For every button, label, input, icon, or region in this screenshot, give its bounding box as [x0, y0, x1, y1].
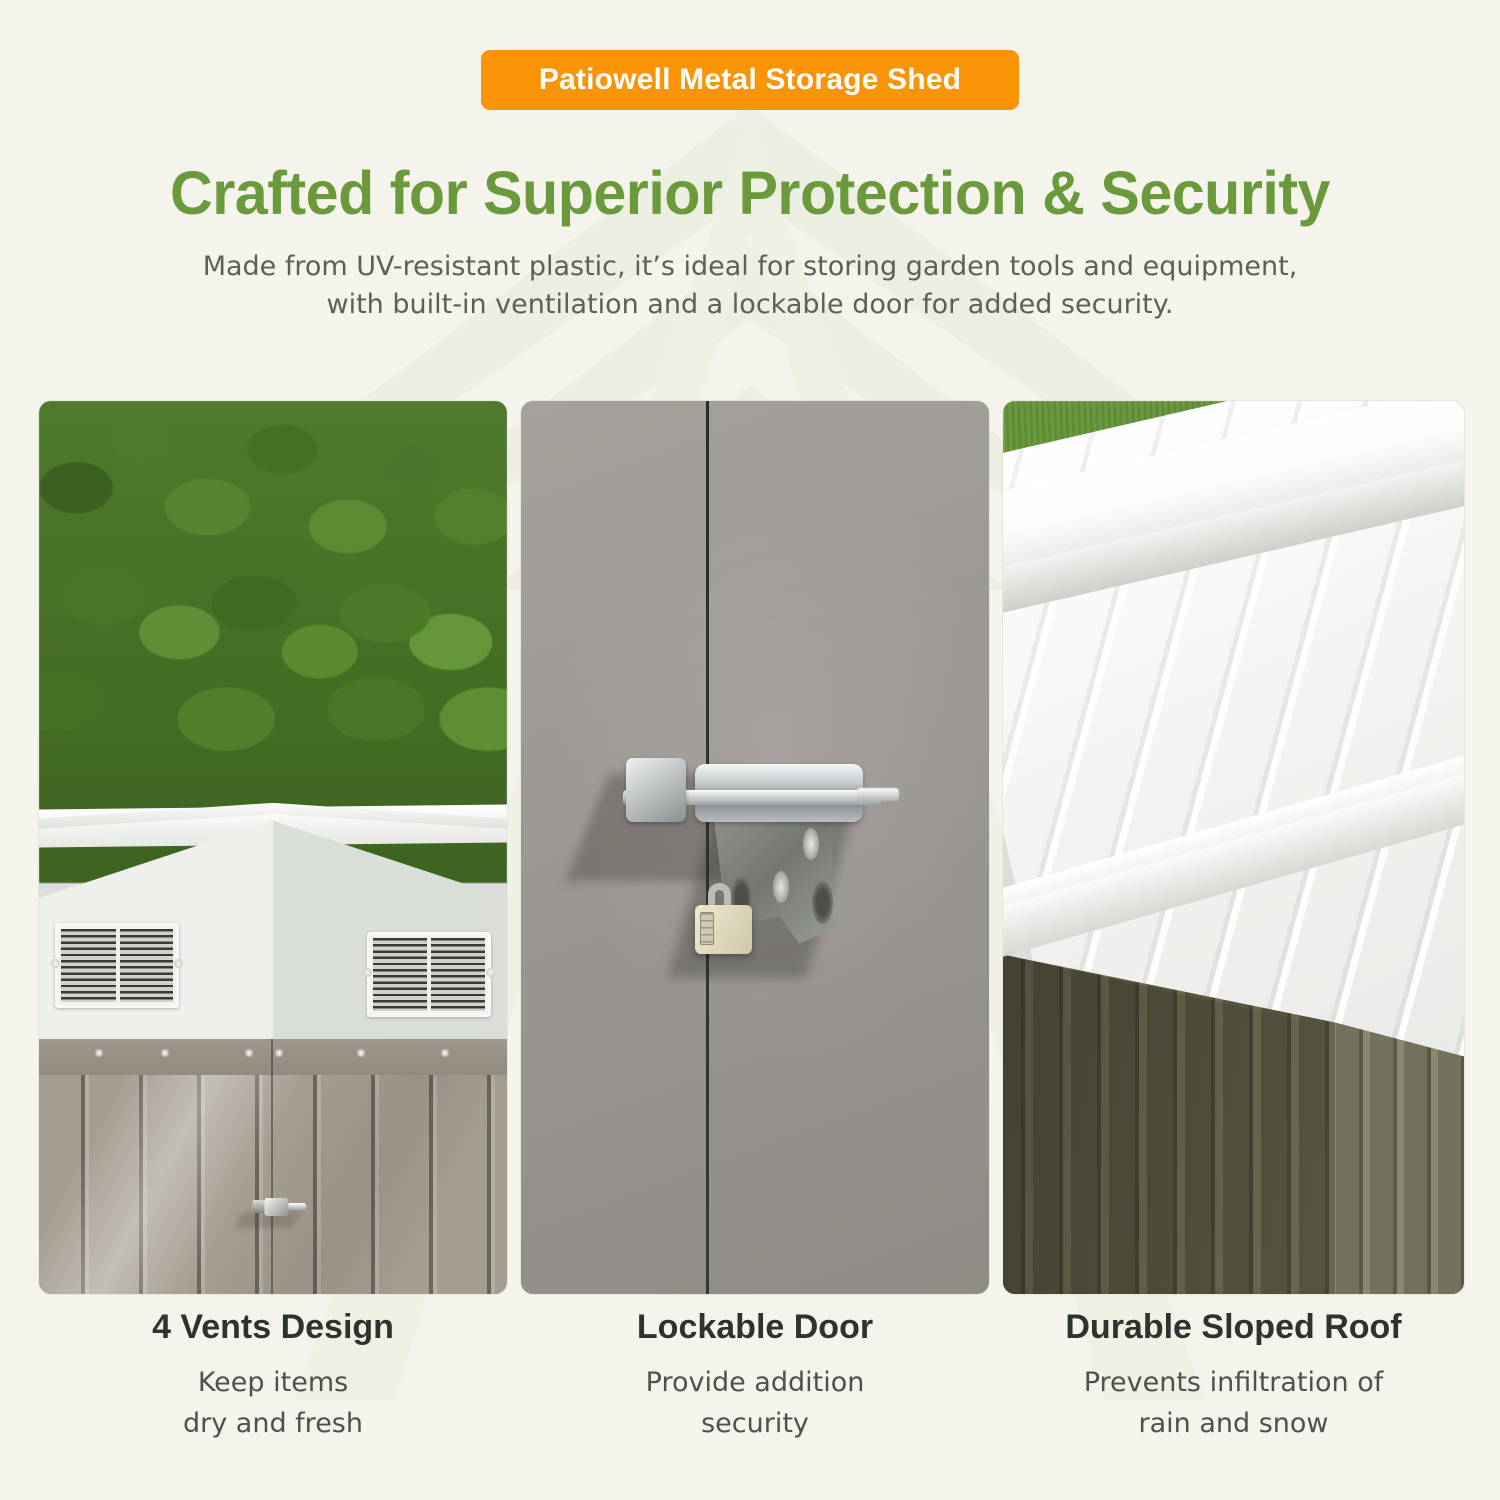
page-subtitle: Made from UV-resistant plastic, it’s ide…	[0, 248, 1500, 325]
padlock-icon	[695, 897, 752, 953]
feature-image-lock	[520, 400, 990, 1295]
feature-title: Lockable Door	[520, 1308, 990, 1347]
feature-desc-line-1: Keep items	[38, 1363, 508, 1404]
door-latch-icon	[253, 1196, 309, 1218]
feature-caption-roof: Durable Sloped Roof Prevents infiltratio…	[1002, 1308, 1465, 1444]
feature-description: Provide addition security	[520, 1363, 990, 1444]
feature-image-row	[38, 400, 1465, 1295]
feature-image-vents	[38, 400, 508, 1295]
feature-title: Durable Sloped Roof	[1002, 1308, 1465, 1347]
feature-description: Keep items dry and fresh	[38, 1363, 508, 1444]
feature-desc-line-2: dry and fresh	[38, 1404, 508, 1445]
feature-caption-vents: 4 Vents Design Keep items dry and fresh	[38, 1308, 508, 1444]
feature-caption-lock: Lockable Door Provide addition security	[520, 1308, 990, 1444]
slide-bolt-cap	[626, 758, 686, 822]
wall-sheen	[39, 1075, 507, 1294]
feature-desc-line-2: security	[520, 1404, 990, 1445]
feature-caption-row: 4 Vents Design Keep items dry and fresh …	[38, 1308, 1465, 1444]
feature-title: 4 Vents Design	[38, 1308, 508, 1347]
product-badge-row: Patiowell Metal Storage Shed	[0, 50, 1500, 110]
door-seam	[271, 1039, 273, 1294]
page-title: Crafted for Superior Protection & Securi…	[23, 158, 1478, 228]
vent-left-icon	[55, 923, 179, 1008]
vent-right-icon	[367, 932, 491, 1017]
subtitle-line-2: with built-in ventilation and a lockable…	[0, 286, 1500, 324]
trim-screws	[39, 1049, 507, 1059]
lock-assembly	[605, 731, 905, 999]
feature-desc-line-1: Provide addition	[520, 1363, 990, 1404]
product-badge: Patiowell Metal Storage Shed	[481, 50, 1019, 110]
feature-desc-line-1: Prevents infiltration of	[1002, 1363, 1465, 1404]
feature-desc-line-2: rain and snow	[1002, 1404, 1465, 1445]
subtitle-line-1: Made from UV-resistant plastic, it’s ide…	[0, 248, 1500, 286]
feature-image-roof	[1002, 400, 1465, 1295]
feature-description: Prevents infiltration of rain and snow	[1002, 1363, 1465, 1444]
